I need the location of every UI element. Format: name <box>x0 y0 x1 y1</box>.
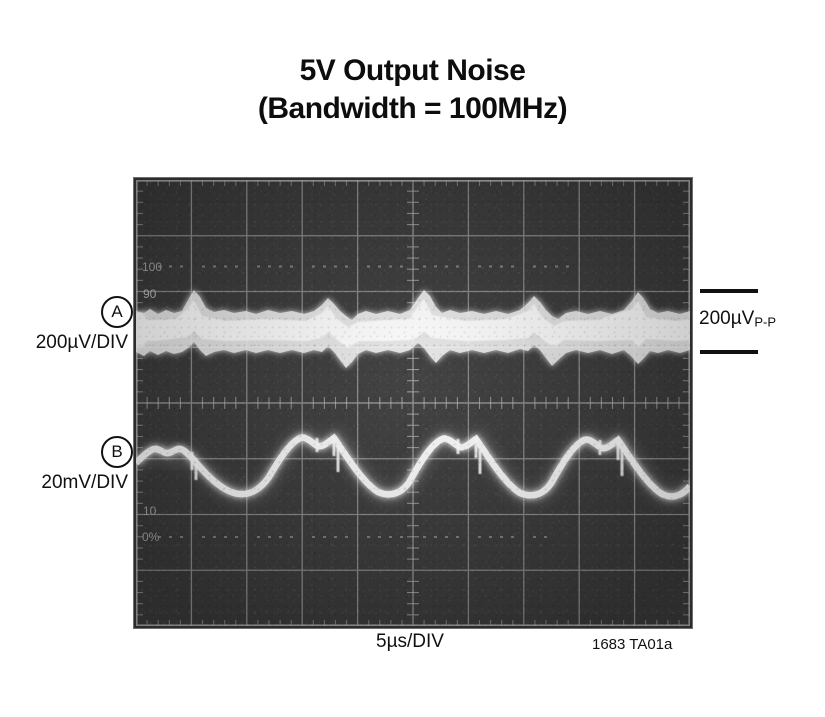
percent-label-90: 90 <box>143 287 157 301</box>
percent-label-100: 100 <box>142 260 162 274</box>
channel-marker-b: B <box>101 436 133 468</box>
oscilloscope-screen: 100 90 10 0% <box>136 180 690 626</box>
figure-canvas: 5V Output Noise (Bandwidth = 100MHz) <box>0 0 825 717</box>
pp-value: 200µV <box>699 308 754 329</box>
timebase-label: 5µs/DIV <box>330 631 490 653</box>
percent-label-10: 10 <box>143 504 157 518</box>
title-line-2: (Bandwidth = 100MHz) <box>0 90 825 128</box>
channel-b-scale-label: 20mV/DIV <box>0 472 128 494</box>
percent-100-dotted-line <box>158 266 569 268</box>
percent-0-dotted-line <box>158 536 547 538</box>
percent-label-0: 0% <box>142 530 160 544</box>
pp-marker-line-bottom <box>700 350 758 354</box>
pp-marker-line-top <box>700 289 758 293</box>
pp-annotation-label: 200µVP-P <box>699 308 776 330</box>
channel-a-scale-label: 200µV/DIV <box>0 332 128 354</box>
title-line-1: 5V Output Noise <box>300 54 526 87</box>
part-id-label: 1683 TA01a <box>592 636 672 653</box>
pp-subscript: P-P <box>754 314 776 329</box>
page-title: 5V Output Noise (Bandwidth = 100MHz) <box>0 52 825 128</box>
graticule-and-traces: 100 90 10 0% <box>136 180 690 626</box>
channel-marker-a: A <box>101 296 133 328</box>
